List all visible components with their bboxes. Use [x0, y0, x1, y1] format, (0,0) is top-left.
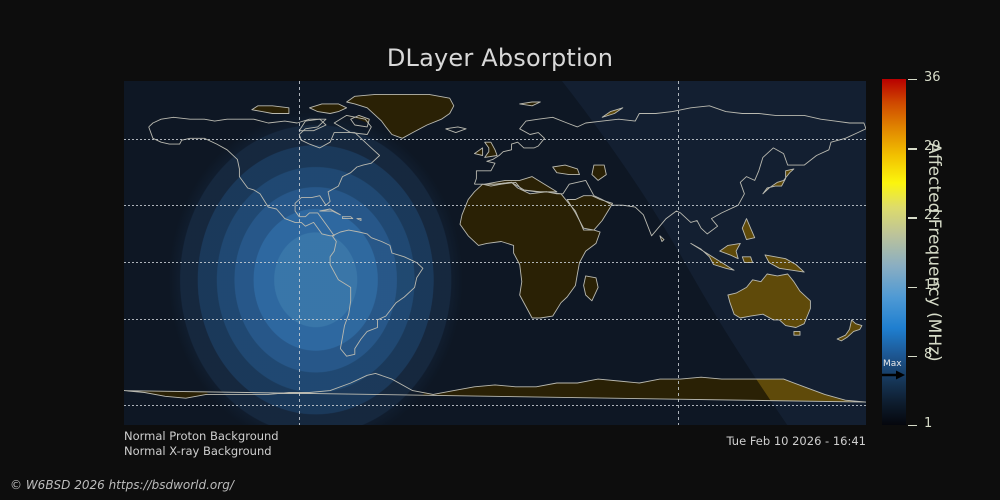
colorbar-max-label: Max [883, 359, 902, 369]
xray-background-note: Normal X-ray Background [124, 444, 272, 459]
dlayer-absorption-figure: DLayer Absorption [0, 0, 1000, 500]
map-layers [124, 81, 866, 425]
colorbar[interactable]: 36 29 22 15 8 1 Max [882, 79, 906, 425]
page-title: DLayer Absorption [0, 44, 1000, 72]
proton-background-note: Normal Proton Background [124, 429, 279, 444]
map-canvas [124, 81, 866, 425]
colorbar-axis-label: Affected Frequency (MHz) [922, 79, 946, 425]
colorbar-max-marker: Max [882, 360, 906, 382]
colorbar-tick-1: 1 [908, 425, 968, 426]
timestamp: Tue Feb 10 2026 - 16:41 [566, 434, 866, 448]
copyright-notice: © W6BSD 2026 https://bsdworld.org/ [10, 478, 234, 492]
world-map[interactable] [124, 81, 866, 425]
max-arrow-icon [882, 369, 906, 381]
